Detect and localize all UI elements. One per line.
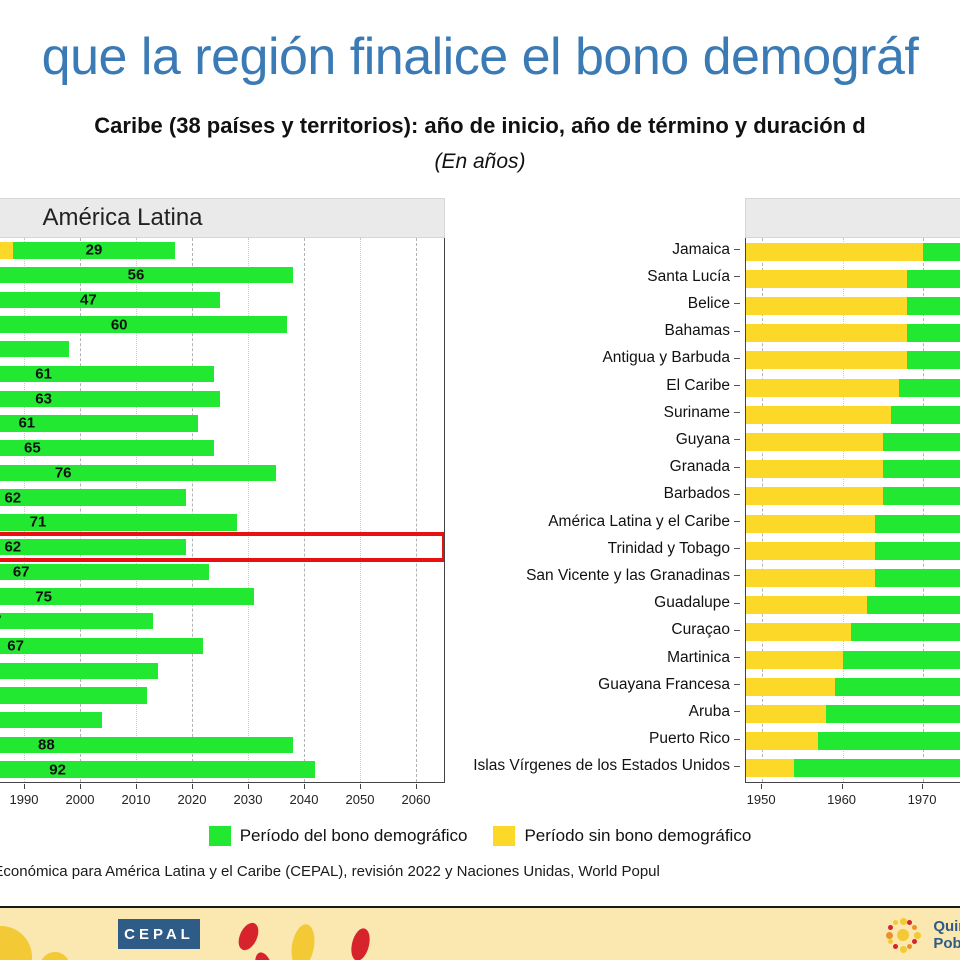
x-tick-label: 2030 <box>234 792 263 807</box>
axis-tick-icon <box>734 276 740 277</box>
category-label: Suriname <box>664 405 740 421</box>
bar-row: 65 <box>0 440 444 456</box>
x-tick-label: 2000 <box>66 792 95 807</box>
bar-row: 58 <box>0 687 444 703</box>
category-label-text: Barbados <box>664 485 730 502</box>
bar-value-label: 61 <box>35 365 52 382</box>
gridline <box>762 238 763 782</box>
category-label-text: Belice <box>688 295 730 312</box>
axis-tick-icon <box>734 575 740 576</box>
bar-row: 60 <box>0 663 444 679</box>
logo-dot-icon <box>907 920 912 925</box>
category-label: Curaçao <box>671 622 740 638</box>
bar-segment-bono <box>0 366 214 382</box>
bar-segment-bono <box>907 270 960 288</box>
bar-segment-bono <box>0 267 293 283</box>
bar-value-label: 92 <box>49 761 66 778</box>
source-line-1: ación de la Comisión Económica para Amér… <box>0 863 660 880</box>
category-label: Trinidad y Tobago <box>608 541 740 557</box>
category-label-text: Curaçao <box>671 621 730 638</box>
bar-segment-bono <box>0 539 186 555</box>
category-label: Islas Vírgenes de los Estados Unidos <box>473 758 740 774</box>
bar-row: 75 <box>0 588 444 604</box>
bar-segment-bono <box>923 243 960 261</box>
bar-row <box>746 460 960 478</box>
x-tick-label: 2060 <box>402 792 431 807</box>
bar-segment-bono <box>0 613 153 629</box>
x-tick-label: 2040 <box>290 792 319 807</box>
bar-segment-bono <box>818 732 960 750</box>
x-tick-mark <box>360 784 361 789</box>
x-tick-label: 1970 <box>908 792 937 807</box>
x-axis-el-caribe: 195019601970198019902000 <box>745 784 960 808</box>
bar-segment-sin-bono <box>746 542 875 560</box>
bar-segment-sin-bono <box>746 351 907 369</box>
bar-value-label: 29 <box>86 242 103 259</box>
bar-row: 51 <box>746 379 960 397</box>
category-label-text: El Caribe <box>666 377 730 394</box>
bar-segment-sin-bono <box>746 678 835 696</box>
bar-value-label: 62 <box>4 489 21 506</box>
bar-row: 62 <box>0 489 444 505</box>
axis-tick-icon <box>734 684 740 685</box>
bar-segment-bono <box>0 341 69 357</box>
chart-panel-el-caribe: El 53545550515541624460305829475253 <box>745 198 960 783</box>
logo-dot-icon <box>888 925 893 930</box>
plot-area-america-latina: 2956476034616361657662716267755767605851… <box>0 238 445 783</box>
page-subtitle: Caribe (38 países y territorios): año de… <box>0 112 960 140</box>
x-tick-mark <box>136 784 137 789</box>
bar-row: 55 <box>746 324 960 342</box>
source-note: ación de la Comisión Económica para Amér… <box>0 862 960 902</box>
legend-swatch-yellow-icon <box>493 826 515 846</box>
axis-tick-icon <box>734 521 740 522</box>
bar-segment-sin-bono <box>746 487 883 505</box>
gridline <box>843 238 844 782</box>
page-title: que la región finalice el bono demográf <box>0 28 960 86</box>
brand-line-1: Quinta Re <box>933 918 960 935</box>
bar-segment-bono <box>899 379 960 397</box>
category-label-text: Antigua y Barbuda <box>602 349 730 366</box>
category-label-text: Jamaica <box>672 241 730 258</box>
bar-row: 41 <box>746 487 960 505</box>
bar-row <box>746 678 960 696</box>
category-label: Antigua y Barbuda <box>602 350 740 366</box>
x-tick-label: 2020 <box>178 792 207 807</box>
category-label-text: América Latina y el Caribe <box>548 513 730 530</box>
bar-segment-bono <box>843 651 960 669</box>
source-line-2: wpp/. <box>0 882 960 902</box>
legend-item-bono: Período del bono demográfico <box>209 826 468 846</box>
logo-dot-icon <box>900 918 907 925</box>
x-tick-label: 2050 <box>346 792 375 807</box>
bar-segment-sin-bono <box>746 759 794 777</box>
bar-segment-bono <box>883 487 960 505</box>
bar-row: 53 <box>746 759 960 777</box>
category-label-text: Martinica <box>667 649 730 666</box>
bar-value-label: 65 <box>24 440 41 457</box>
axis-tick-icon <box>734 494 740 495</box>
bar-row: 71 <box>0 514 444 530</box>
x-tick-label: 1950 <box>747 792 776 807</box>
axis-tick-icon <box>734 358 740 359</box>
x-tick-mark <box>248 784 249 789</box>
bar-segment-sin-bono <box>746 515 875 533</box>
category-label: Martinica <box>667 650 740 666</box>
bar-segment-sin-bono <box>746 569 875 587</box>
bar-row: 44 <box>746 542 960 560</box>
logo-dot-icon <box>888 939 893 944</box>
category-label-text: Puerto Rico <box>649 730 730 747</box>
bar-row: 60 <box>746 569 960 587</box>
category-label-text: Granada <box>670 458 730 475</box>
bar-segment-bono <box>883 460 960 478</box>
bar-value-label: 76 <box>55 464 72 481</box>
bar-segment-sin-bono <box>746 324 907 342</box>
bar-segment-sin-bono <box>746 379 899 397</box>
legend-swatch-green-icon <box>209 826 231 846</box>
x-axis-america-latina: 1960197019801990200020102020203020402050… <box>0 784 444 808</box>
axis-tick-icon <box>734 657 740 658</box>
axis-tick-icon <box>734 412 740 413</box>
bar-row <box>746 297 960 315</box>
logo-dot-icon <box>912 939 917 944</box>
axis-tick-icon <box>734 739 740 740</box>
bar-row <box>746 433 960 451</box>
bar-row: 55 <box>746 406 960 424</box>
bar-value-label: 63 <box>35 390 52 407</box>
bar-segment-bono <box>0 712 102 728</box>
bar-segment-bono <box>0 638 203 654</box>
bar-value-label: 56 <box>128 267 145 284</box>
x-tick-mark <box>80 784 81 789</box>
logo-core-icon <box>897 929 909 941</box>
bar-row: 60 <box>0 316 444 332</box>
axis-tick-icon <box>734 548 740 549</box>
bar-segment-bono <box>0 663 158 679</box>
bar-segment-bono <box>891 406 960 424</box>
bar-row: 62 <box>746 515 960 533</box>
x-tick-mark <box>192 784 193 789</box>
bar-segment-bono <box>0 489 186 505</box>
bar-row: 58 <box>746 623 960 641</box>
bar-value-label: 88 <box>38 736 55 753</box>
category-label: América Latina y el Caribe <box>548 514 740 530</box>
bar-value-label: 75 <box>35 588 52 605</box>
bar-row: 54 <box>746 270 960 288</box>
logo-dot-icon <box>900 946 907 953</box>
axis-tick-icon <box>734 331 740 332</box>
category-label-text: Guadalupe <box>654 594 730 611</box>
bar-row: 34 <box>0 341 444 357</box>
chart-title-el-caribe: El <box>745 198 960 238</box>
x-tick-mark <box>842 784 843 789</box>
bar-value-label: 67 <box>13 563 30 580</box>
bar-value-label: 67 <box>7 637 24 654</box>
x-tick-mark <box>24 784 25 789</box>
bar-segment-sin-bono <box>746 270 907 288</box>
bar-value-label: 57 <box>0 613 2 630</box>
bar-segment-bono <box>867 596 960 614</box>
bar-row: 52 <box>746 732 960 750</box>
axis-tick-icon <box>734 766 740 767</box>
bar-segment-sin-bono <box>0 242 13 258</box>
bar-segment-bono <box>907 324 960 342</box>
slide: que la región finalice el bono demográf … <box>0 0 960 960</box>
quinta-reunion-mark-icon <box>885 916 925 954</box>
bar-segment-sin-bono <box>746 705 826 723</box>
bar-segment-bono <box>0 391 220 407</box>
decoration-blob-yellow-2 <box>40 952 70 960</box>
axis-tick-icon <box>734 630 740 631</box>
bar-row: 61 <box>0 415 444 431</box>
quinta-reunion-logo: Quinta Re Población <box>885 916 960 954</box>
bar-segment-bono <box>0 761 315 777</box>
bar-value-label: 47 <box>80 291 97 308</box>
brand-line-2: Población <box>933 935 960 952</box>
bar-segment-sin-bono <box>746 460 883 478</box>
bar-segment-bono <box>875 542 960 560</box>
bar-segment-sin-bono <box>746 651 843 669</box>
category-label: Guadalupe <box>654 595 740 611</box>
bar-row: 88 <box>0 737 444 753</box>
bar-row: 53 <box>746 243 960 261</box>
plot-area-el-caribe: 53545550515541624460305829475253 <box>745 238 960 783</box>
cepal-logo: CEPAL <box>118 919 200 949</box>
axis-tick-icon <box>734 467 740 468</box>
logo-dot-icon <box>912 925 917 930</box>
logo-dot-icon <box>893 944 898 949</box>
category-label-text: Santa Lucía <box>647 268 730 285</box>
bar-value-label: 60 <box>111 316 128 333</box>
bar-segment-sin-bono <box>746 406 891 424</box>
axis-tick-icon <box>734 711 740 712</box>
bar-row: 76 <box>0 465 444 481</box>
quinta-reunion-text: Quinta Re Población <box>933 918 960 952</box>
category-label: Granada <box>670 459 740 475</box>
legend-item-sin-bono: Período sin bono demográfico <box>493 826 751 846</box>
chart-title-america-latina: América Latina <box>0 198 445 238</box>
category-label-text: Islas Vírgenes de los Estados Unidos <box>473 757 730 774</box>
x-tick-mark <box>922 784 923 789</box>
category-label-text: Trinidad y Tobago <box>608 540 730 557</box>
axis-tick-icon <box>734 439 740 440</box>
decoration-blob-yellow-3 <box>288 922 317 960</box>
category-label-text: Bahamas <box>665 322 730 339</box>
bar-row: 57 <box>0 613 444 629</box>
chart-legend: Período del bono demográfico Período sin… <box>0 826 960 846</box>
bar-value-label: 61 <box>18 415 35 432</box>
category-label-text: San Vicente y las Granadinas <box>526 567 730 584</box>
bar-segment-sin-bono <box>746 243 923 261</box>
bar-segment-bono <box>851 623 960 641</box>
x-tick-mark <box>304 784 305 789</box>
x-tick-mark <box>416 784 417 789</box>
page-subtitle-units: (En años) <box>0 148 960 176</box>
bar-segment-sin-bono <box>746 433 883 451</box>
category-label: Guyana <box>676 432 740 448</box>
category-label: El Caribe <box>666 378 740 394</box>
bar-row: 51 <box>0 712 444 728</box>
bar-row: 63 <box>0 391 444 407</box>
bar-row: 50 <box>746 351 960 369</box>
bar-row: 62 <box>0 539 444 555</box>
category-label: Guayana Francesa <box>598 677 740 693</box>
bar-row: 67 <box>0 564 444 580</box>
bar-value-label: 62 <box>4 539 21 556</box>
bar-row: 29 <box>0 242 444 258</box>
bar-segment-bono <box>0 687 147 703</box>
axis-tick-icon <box>734 385 740 386</box>
category-label-text: Aruba <box>689 703 730 720</box>
bar-row: 61 <box>0 366 444 382</box>
bar-segment-bono <box>875 569 960 587</box>
category-label: Puerto Rico <box>649 731 740 747</box>
bar-segment-sin-bono <box>746 596 867 614</box>
logo-dot-icon <box>886 932 893 939</box>
category-label-text: Guyana <box>676 431 730 448</box>
category-label: Jamaica <box>672 242 740 258</box>
bar-segment-bono <box>907 297 960 315</box>
gridline <box>923 238 924 782</box>
category-label: Belice <box>688 296 740 312</box>
bar-segment-sin-bono <box>746 623 851 641</box>
bar-row: 47 <box>0 292 444 308</box>
bar-segment-bono <box>907 351 960 369</box>
legend-label-yellow: Período sin bono demográfico <box>524 826 751 846</box>
category-label: San Vicente y las Granadinas <box>526 568 740 584</box>
bar-row: 30 <box>746 596 960 614</box>
decoration-blob-red-2 <box>348 926 372 960</box>
footer-band: CEPAL Quinta Re Población <box>0 908 960 960</box>
bar-segment-sin-bono <box>746 297 907 315</box>
legend-label-green: Período del bono demográfico <box>240 826 468 846</box>
category-label: Aruba <box>689 704 740 720</box>
chart-panel-america-latina: América Latina 2956476034616361657662716… <box>0 198 445 783</box>
logo-dot-icon <box>893 920 898 925</box>
bar-row: 56 <box>0 267 444 283</box>
category-label-text: Guayana Francesa <box>598 676 730 693</box>
x-tick-label: 1960 <box>827 792 856 807</box>
bar-segment-bono <box>875 515 960 533</box>
x-tick-label: 1990 <box>10 792 39 807</box>
bar-row: 67 <box>0 638 444 654</box>
bar-segment-bono <box>0 292 220 308</box>
bar-segment-bono <box>883 433 960 451</box>
axis-tick-icon <box>734 303 740 304</box>
category-label-text: Suriname <box>664 404 730 421</box>
bar-row: 29 <box>746 651 960 669</box>
bar-row: 47 <box>746 705 960 723</box>
bar-segment-sin-bono <box>746 732 818 750</box>
x-tick-mark <box>761 784 762 789</box>
bar-segment-bono <box>835 678 960 696</box>
decoration-blob-red-3 <box>252 950 274 960</box>
axis-tick-icon <box>734 603 740 604</box>
bar-segment-bono <box>794 759 960 777</box>
category-label: Bahamas <box>665 323 740 339</box>
decoration-blob-yellow-1 <box>0 926 32 960</box>
logo-dot-icon <box>907 944 912 949</box>
bar-segment-bono <box>0 564 209 580</box>
logo-dot-icon <box>914 932 921 939</box>
category-label: Barbados <box>664 486 740 502</box>
bar-value-label: 71 <box>30 514 47 531</box>
bar-row: 92 <box>0 761 444 777</box>
bar-segment-bono <box>0 465 276 481</box>
x-tick-label: 2010 <box>122 792 151 807</box>
category-label: Santa Lucía <box>647 269 740 285</box>
axis-tick-icon <box>734 249 740 250</box>
decoration-blob-red-1 <box>235 920 263 953</box>
bar-segment-bono <box>826 705 960 723</box>
bar-segment-bono <box>0 316 287 332</box>
